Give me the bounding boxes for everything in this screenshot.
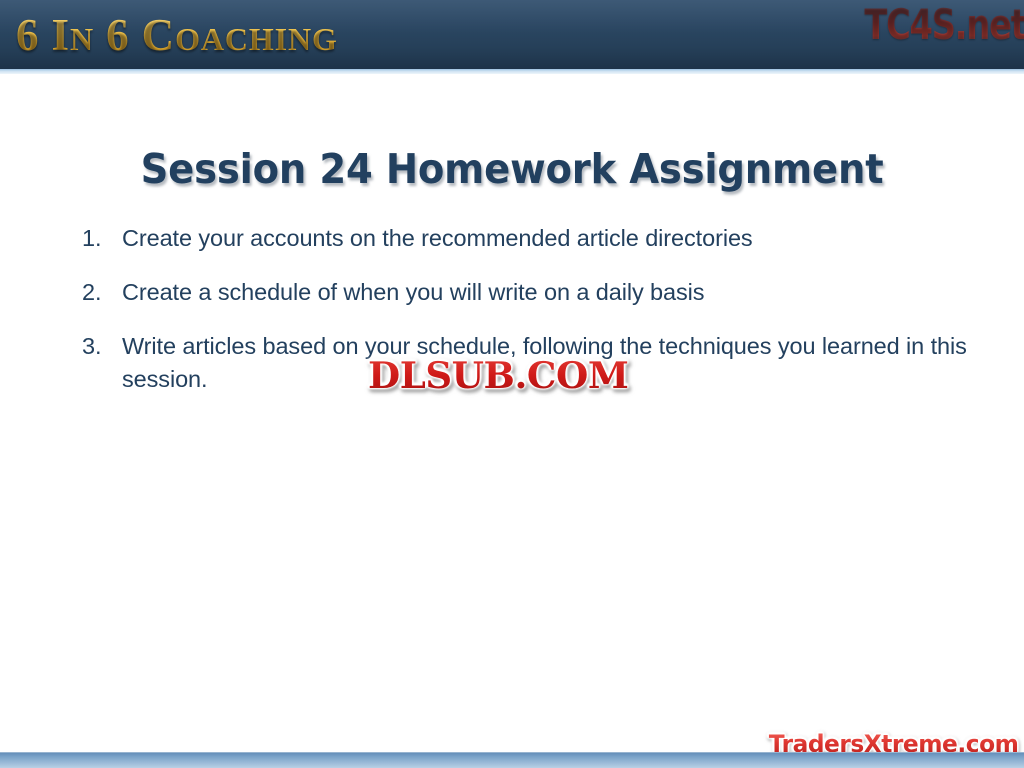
slide-footer-band — [0, 752, 1024, 768]
list-item-text: Create your accounts on the recommended … — [122, 222, 968, 255]
slide-title: Session 24 Homework Assignment — [31, 145, 994, 193]
list-item: 1. Create your accounts on the recommend… — [78, 222, 968, 255]
list-item-number: 3. — [82, 330, 112, 363]
list-item-number: 1. — [82, 222, 112, 255]
brand-logo-6-in-6-coaching: 6 In 6 Coaching — [16, 7, 338, 63]
presentation-slide: 6 In 6 Coaching TC4S.net Session 24 Home… — [0, 0, 1024, 768]
slide-header-band: 6 In 6 Coaching TC4S.net — [0, 0, 1024, 69]
list-item-number: 2. — [82, 276, 112, 309]
list-item-text: Create a schedule of when you will write… — [122, 276, 968, 309]
tc4s-net-logo: TC4S.net — [865, 1, 1024, 49]
header-underline-rule — [0, 69, 1024, 74]
dlsub-watermark: DLSUB.COM — [368, 356, 628, 396]
list-item: 2. Create a schedule of when you will wr… — [78, 276, 968, 309]
